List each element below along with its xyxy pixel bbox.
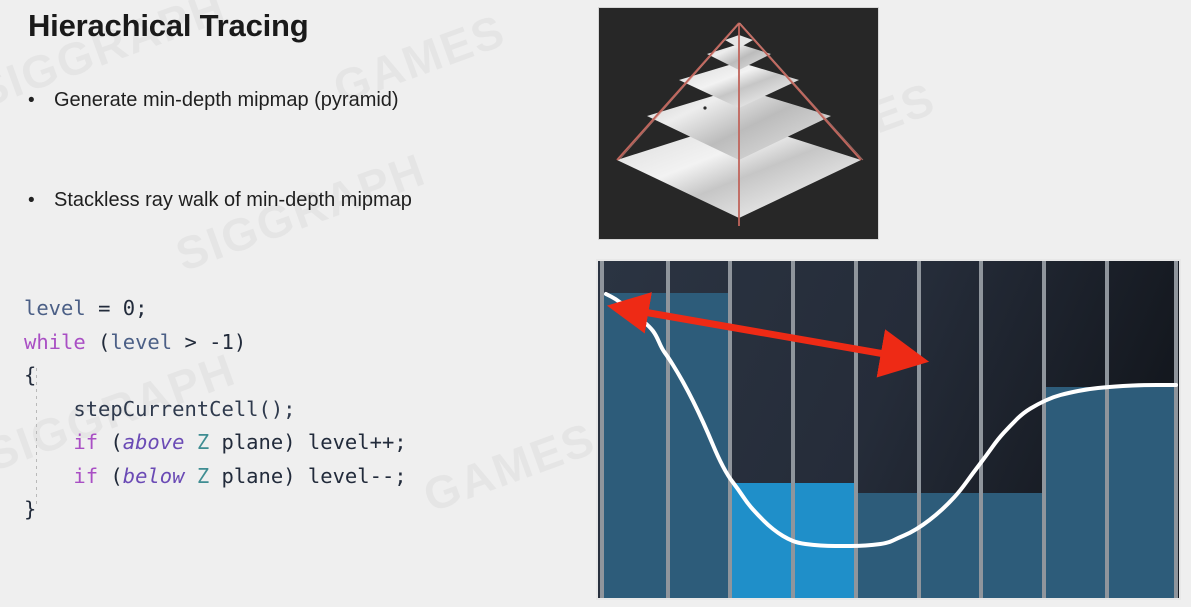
surface-speck <box>703 106 706 109</box>
min-depth-cell <box>1107 387 1176 598</box>
bullet-text: Stackless ray walk of min-depth mipmap <box>54 188 412 213</box>
min-depth-cell <box>1044 387 1107 598</box>
code-token: ( <box>86 330 111 354</box>
min-depth-cell <box>730 483 793 598</box>
slide-body: Hierachical Tracing • Generate min-depth… <box>0 0 1191 607</box>
code-token: plane) level++; <box>209 430 406 454</box>
code-token <box>86 296 98 320</box>
bullet-text: Generate min-depth mipmap (pyramid) <box>54 88 399 113</box>
min-depth-chart-svg <box>598 261 1179 598</box>
code-token: if <box>73 430 98 454</box>
min-depth-cell <box>668 293 730 598</box>
code-token: below <box>123 464 185 488</box>
code-token <box>184 464 196 488</box>
code-token: level <box>110 330 172 354</box>
bullet-marker-icon: • <box>28 91 54 110</box>
min-depth-cell <box>793 483 856 598</box>
code-token: = <box>98 296 110 320</box>
pyramid-svg <box>599 8 878 239</box>
code-token: stepCurrentCell(); <box>24 397 296 421</box>
min-depth-cell <box>981 493 1044 598</box>
code-token: > <box>172 330 209 354</box>
code-line: if (below Z plane) level--; <box>24 460 407 494</box>
code-indent-guide <box>36 368 37 506</box>
code-token: ( <box>98 464 123 488</box>
code-block: level = 0;while (level > -1){ stepCurren… <box>24 292 407 527</box>
code-token <box>24 430 73 454</box>
mipmap-pyramid-image <box>599 8 878 239</box>
bullet-item-0: • Generate min-depth mipmap (pyramid) <box>28 88 573 113</box>
code-token: Z <box>197 464 209 488</box>
code-line: stepCurrentCell(); <box>24 393 407 427</box>
code-token: while <box>24 330 86 354</box>
code-token: ( <box>98 430 123 454</box>
code-token <box>24 464 73 488</box>
min-depth-cell <box>919 493 981 598</box>
code-token: } <box>24 497 36 521</box>
code-token: level <box>24 296 86 320</box>
bullet-item-1: • Stackless ray walk of min-depth mipmap <box>28 188 573 213</box>
code-token <box>184 430 196 454</box>
page-title: Hierachical Tracing <box>28 8 309 44</box>
code-token: 0; <box>123 296 148 320</box>
code-line: while (level > -1) <box>24 326 407 360</box>
code-line: if (above Z plane) level++; <box>24 426 407 460</box>
code-token: if <box>73 464 98 488</box>
code-line: } <box>24 493 407 527</box>
code-line: { <box>24 359 407 393</box>
min-depth-ray-walk-chart <box>598 261 1179 598</box>
code-token: { <box>24 363 36 387</box>
code-token: plane) level--; <box>209 464 406 488</box>
bullet-marker-icon: • <box>28 191 54 210</box>
code-line: level = 0; <box>24 292 407 326</box>
code-token <box>110 296 122 320</box>
code-token: -1) <box>209 330 246 354</box>
code-token: Z <box>197 430 209 454</box>
code-token: above <box>123 430 185 454</box>
